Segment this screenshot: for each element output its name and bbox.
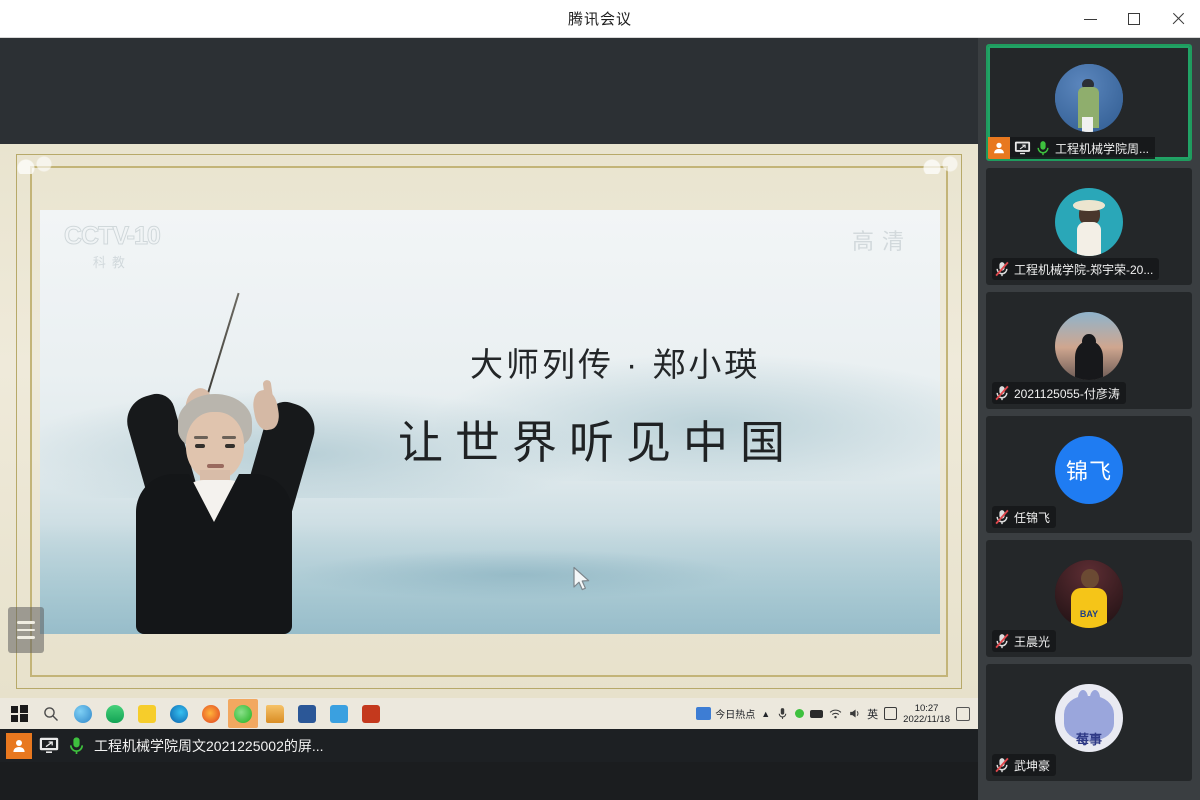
window-title-bar: 腾讯会议 — [0, 0, 1200, 38]
tray-network-icon[interactable] — [829, 707, 842, 720]
word-icon[interactable] — [292, 699, 322, 728]
alipay-icon[interactable] — [100, 699, 130, 728]
file-explorer-icon[interactable] — [260, 699, 290, 728]
cctv-watermark: CCTV-10 科教 — [64, 222, 160, 271]
mic-off-icon — [994, 261, 1010, 277]
start-icon — [11, 705, 28, 722]
participant-name: 武坤豪 — [1014, 757, 1050, 774]
close-button[interactable] — [1156, 0, 1200, 38]
cute-blob-avatar-icon: 莓事 — [1055, 684, 1123, 752]
host-badge — [988, 137, 1010, 159]
participant-name-bar: 工程机械学院-郑宇荣-20... — [992, 258, 1159, 280]
participant-tile-3[interactable]: 2021125055-付彦涛 — [986, 292, 1192, 409]
minimize-button[interactable] — [1068, 0, 1112, 38]
avatar-dress — [1077, 222, 1101, 256]
mic-glyph — [68, 736, 85, 755]
text-avatar-icon: 锦飞 — [1055, 436, 1123, 504]
participant-name: 王晨光 — [1014, 633, 1050, 650]
mic-off-icon — [994, 509, 1010, 525]
tray-battery-icon[interactable] — [810, 710, 823, 718]
video-title-line1: 大师列传 · 郑小瑛 — [470, 338, 760, 386]
presenter-name-label: 工程机械学院周文2021225002的屏... — [94, 736, 324, 756]
system-tray: 今日热点 ▲ 英 — [696, 703, 978, 725]
menu-line-1 — [17, 621, 35, 624]
mic-off-icon — [994, 633, 1010, 649]
clock-time: 10:27 — [903, 703, 950, 714]
playlist-menu-icon[interactable] — [8, 607, 44, 653]
participant-name-bar: 2021125055-付彦涛 — [992, 382, 1126, 404]
tray-news-label: 今日热点 — [715, 706, 755, 721]
host-person-icon — [11, 738, 27, 754]
avatar — [1055, 312, 1123, 380]
conductor-figure — [100, 284, 320, 634]
avatar-ear-left — [1078, 690, 1088, 706]
maximize-icon — [1128, 13, 1140, 25]
host-person-icon — [992, 141, 1006, 155]
tray-expand-icon[interactable]: ▲ — [761, 709, 770, 719]
host-badge — [6, 733, 32, 759]
avatar: 锦飞 — [1055, 436, 1123, 504]
taskbar-app-list — [0, 699, 386, 728]
qq-icon[interactable] — [132, 699, 162, 728]
video-title-line2: 让世界听见中国 — [398, 406, 797, 471]
face-eye-right — [225, 444, 235, 448]
hat-woman-avatar-icon — [1055, 188, 1123, 256]
avatar-jersey-text: BAY — [1055, 609, 1123, 619]
close-icon — [1171, 12, 1185, 26]
face-eye-left — [195, 444, 205, 448]
menu-line-2 — [17, 629, 35, 632]
avatar — [1055, 64, 1123, 132]
start-button[interactable] — [4, 699, 34, 728]
tray-news-widget[interactable]: 今日热点 — [696, 706, 755, 721]
corner-ornament-left-icon — [14, 148, 58, 174]
screen-share-icon — [1014, 141, 1031, 155]
remote-desktop: CCTV-10 科教 高清 — [0, 38, 978, 762]
avatar: 莓事 — [1055, 684, 1123, 752]
share-monitor-icon — [39, 737, 59, 754]
participant-name-bar: 任锦飞 — [992, 506, 1056, 528]
search-glyph — [43, 706, 59, 722]
baton-icon — [204, 293, 240, 404]
clock-date: 2022/11/18 — [903, 714, 950, 725]
edge-icon[interactable] — [164, 699, 194, 728]
search-icon[interactable] — [36, 699, 66, 728]
taskbar-clock[interactable]: 10:27 2022/11/18 — [903, 703, 950, 725]
mic-off-icon — [994, 757, 1010, 773]
mic-off-icon — [994, 385, 1010, 401]
mic-on-icon — [1035, 140, 1051, 156]
basketball-player-avatar-icon: BAY — [1055, 560, 1123, 628]
avatar-initials: 锦飞 — [1066, 454, 1112, 486]
show-desktop-button[interactable] — [956, 707, 970, 721]
mic-on-icon — [66, 736, 86, 755]
mouse-cursor-icon — [572, 566, 592, 594]
participant-tile-6[interactable]: 莓事 武坤豪 — [986, 664, 1192, 781]
avatar-head — [1081, 569, 1099, 588]
remote-taskbar[interactable]: 今日热点 ▲ 英 — [0, 698, 978, 729]
avatar-ear-right — [1090, 690, 1100, 706]
participant-tile-2[interactable]: 工程机械学院-郑宇荣-20... — [986, 168, 1192, 285]
avatar-hat — [1073, 200, 1106, 211]
minimize-icon — [1084, 19, 1097, 20]
participant-name: 任锦飞 — [1014, 509, 1050, 526]
face-brow-left — [194, 436, 208, 439]
participant-name-bar: 武坤豪 — [992, 754, 1056, 776]
tray-status-dot-icon[interactable] — [795, 709, 804, 718]
participant-sidebar[interactable]: 工程机械学院周... 工程机械学院-郑宇荣-20... — [978, 38, 1200, 800]
avatar — [1055, 188, 1123, 256]
avatar-body — [1075, 342, 1102, 380]
avatar-legs — [1082, 117, 1093, 132]
avatar: BAY — [1055, 560, 1123, 628]
screen-share-icon — [38, 737, 60, 755]
participant-name-bar: 工程机械学院周... — [988, 137, 1155, 159]
cctv-logo-text: CCTV-10 — [64, 222, 160, 251]
cctv-subtitle-text: 科教 — [64, 252, 160, 271]
face-mouth — [207, 464, 224, 468]
presenter-label-bar: 工程机械学院周文2021225002的屏... — [0, 729, 978, 762]
shared-screen-stage[interactable]: CCTV-10 科教 高清 — [0, 38, 978, 762]
face-brow-right — [222, 436, 236, 439]
photos-icon[interactable] — [324, 699, 354, 728]
participant-tile-1[interactable]: 工程机械学院周... — [986, 44, 1192, 161]
maximize-button[interactable] — [1112, 0, 1156, 38]
conductor-finger — [263, 380, 274, 403]
avatar-text: 莓事 — [1055, 729, 1123, 748]
firefox-icon[interactable] — [196, 699, 226, 728]
menu-line-3 — [17, 636, 35, 639]
participant-tile-5[interactable]: BAY 王晨光 — [986, 540, 1192, 657]
person-avatar-icon — [1055, 64, 1123, 132]
page-title: 腾讯会议 — [568, 8, 632, 29]
ime-panel-icon[interactable] — [884, 707, 897, 720]
participant-name: 工程机械学院-郑宇荣-20... — [1014, 261, 1153, 278]
video-player-surface[interactable]: CCTV-10 科教 高清 — [40, 210, 940, 634]
powerpoint-icon[interactable] — [356, 699, 386, 728]
participant-name: 2021125055-付彦涛 — [1014, 385, 1120, 402]
browser-360-icon[interactable] — [68, 699, 98, 728]
corner-ornament-right-icon — [920, 148, 964, 174]
participant-name-bar: 王晨光 — [992, 630, 1056, 652]
background-wash-center — [292, 549, 742, 600]
participant-name: 工程机械学院周... — [1055, 140, 1149, 157]
ime-indicator[interactable]: 英 — [867, 706, 878, 722]
participant-tile-4[interactable]: 锦飞 任锦飞 — [986, 416, 1192, 533]
tray-mic-icon[interactable] — [776, 707, 789, 720]
news-icon — [696, 707, 711, 720]
hd-watermark: 高清 — [852, 224, 912, 256]
window-controls — [1068, 0, 1200, 38]
sunset-silhouette-avatar-icon — [1055, 312, 1123, 380]
tray-volume-icon[interactable] — [848, 707, 861, 720]
wechat-icon[interactable] — [228, 699, 258, 728]
